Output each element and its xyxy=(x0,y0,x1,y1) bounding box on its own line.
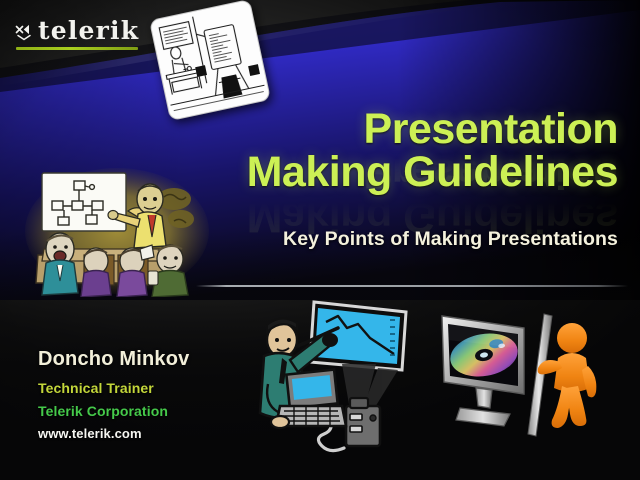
author-name: Doncho Minkov xyxy=(38,348,268,371)
bored-audience-cartoon-icon xyxy=(24,163,210,297)
author-block: Doncho Minkov Technical Trainer Telerik … xyxy=(38,348,268,441)
author-organization: Telerik Corporation xyxy=(38,403,268,419)
author-role: Technical Trainer xyxy=(38,380,268,396)
telerik-logo[interactable]: telerik xyxy=(14,18,150,50)
title-line-2: Making Guidelines xyxy=(198,151,618,193)
telerik-logo-mark-icon xyxy=(14,22,34,42)
telerik-wordmark: telerik xyxy=(38,18,139,43)
slide-subtitle: Key Points of Making Presentations xyxy=(188,228,618,251)
monitor-with-pointer-figure-icon xyxy=(432,300,602,452)
presentation-sketch-card-icon xyxy=(148,0,271,122)
title-line-1: Presentation xyxy=(198,108,618,150)
presenter-with-projector-icon xyxy=(246,298,416,458)
title-divider-rule xyxy=(196,285,628,287)
presentation-slide: telerik xyxy=(0,0,640,480)
author-website-link[interactable]: www.telerik.com xyxy=(38,426,268,441)
logo-underline-rule xyxy=(16,47,138,50)
slide-title: Presentation Making Guidelines xyxy=(198,108,618,193)
